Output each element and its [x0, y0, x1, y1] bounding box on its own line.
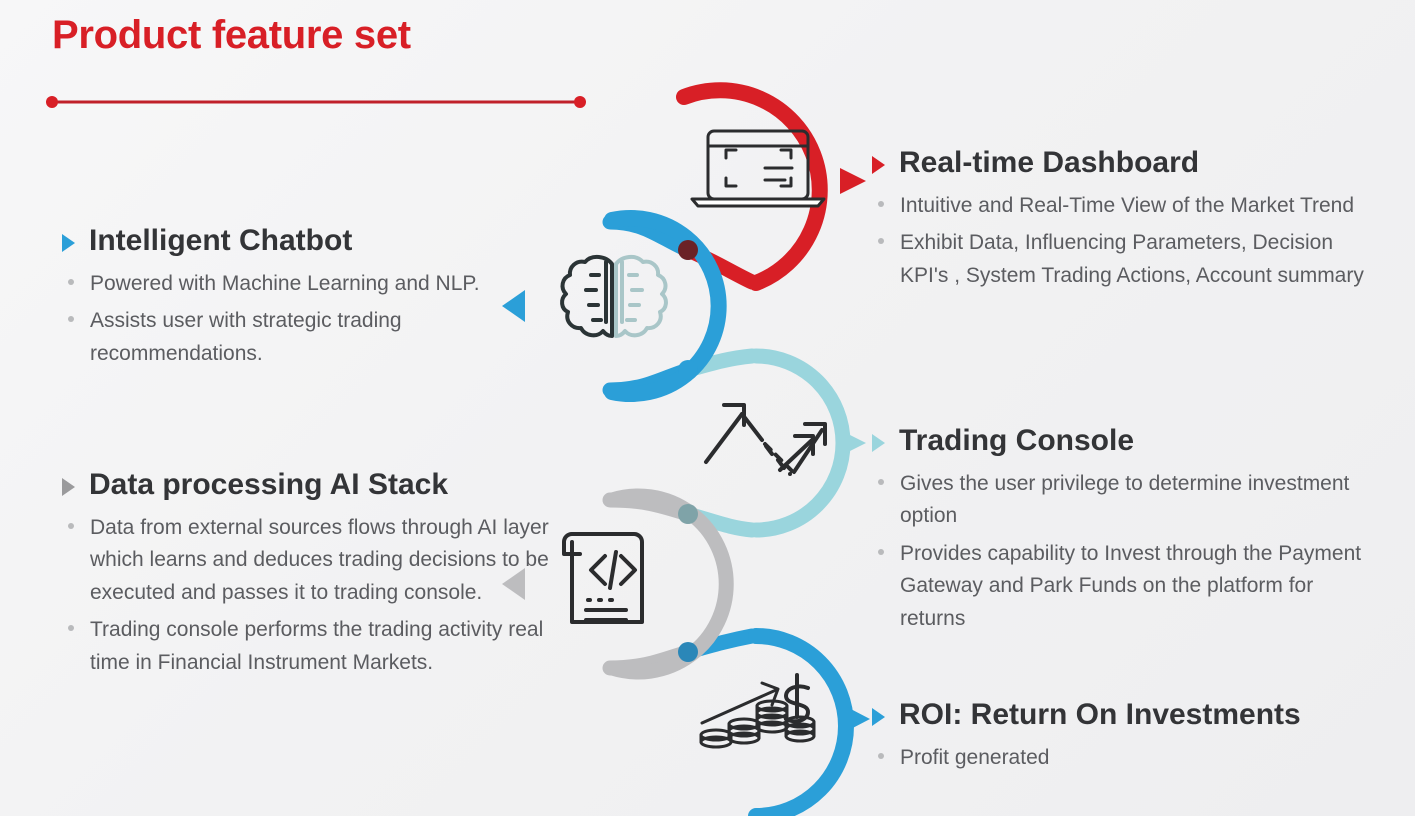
- list-item: Trading console performs the trading act…: [62, 614, 562, 679]
- ring-roi: [756, 636, 870, 816]
- joint-gray-blue: [678, 642, 698, 662]
- bullet-dot-icon: [878, 201, 884, 207]
- connector-ribbons: [610, 222, 752, 668]
- list-item: Provides capability to Invest through th…: [872, 538, 1382, 636]
- bullet-dot-icon: [68, 279, 74, 285]
- joint-red-blue: [678, 240, 698, 260]
- list-item: Exhibit Data, Influencing Parameters, De…: [872, 227, 1382, 292]
- triangle-right-icon: [62, 478, 75, 496]
- bullet-dot-icon: [878, 753, 884, 759]
- feature-bullet-list: Intuitive and Real-Time View of the Mark…: [872, 190, 1382, 293]
- feature-bullet-list: Data from external sources flows through…: [62, 512, 562, 680]
- ring-pointer-right: [840, 168, 866, 194]
- bullet-text: Trading console performs the trading act…: [90, 618, 543, 674]
- laptop-dashboard-icon: [692, 131, 824, 206]
- ring-real-time-dashboard: [684, 90, 866, 283]
- feature-real-time-dashboard: Real-time Dashboard Intuitive and Real-T…: [872, 144, 1382, 297]
- feature-heading-row: Real-time Dashboard: [872, 144, 1382, 182]
- bullet-dot-icon: [68, 316, 74, 322]
- feature-heading-row: Trading Console: [872, 422, 1382, 460]
- feature-bullet-list: Powered with Machine Learning and NLP. A…: [62, 268, 532, 371]
- rule-dot-left: [46, 96, 58, 108]
- slide-canvas: Product feature set: [0, 0, 1415, 816]
- connector-joints: [678, 240, 698, 662]
- bullet-dot-icon: [68, 625, 74, 631]
- bullet-text: Exhibit Data, Influencing Parameters, De…: [900, 231, 1364, 287]
- triangle-right-icon: [872, 708, 885, 726]
- bullet-dot-icon: [878, 238, 884, 244]
- ring-trading-console: [756, 356, 866, 530]
- feature-data-processing-ai-stack: Data processing AI Stack Data from exter…: [62, 466, 562, 684]
- ring-intelligent-chatbot: [502, 218, 719, 394]
- bullet-text: Provides capability to Invest through th…: [900, 542, 1361, 630]
- code-document-icon: [564, 534, 642, 622]
- list-item: Gives the user privilege to determine in…: [872, 468, 1382, 533]
- list-item: Powered with Machine Learning and NLP.: [62, 268, 532, 301]
- feature-title: Real-time Dashboard: [899, 144, 1199, 182]
- feature-roi-return-on-investments: ROI: Return On Investments Profit genera…: [872, 696, 1382, 779]
- feature-title: ROI: Return On Investments: [899, 696, 1301, 734]
- ring-pointer-right: [840, 430, 866, 456]
- feature-trading-console: Trading Console Gives the user privilege…: [872, 422, 1382, 640]
- feature-heading-row: Data processing AI Stack: [62, 466, 562, 504]
- coins-growth-dollar-icon: [701, 675, 814, 747]
- list-item: Profit generated: [872, 742, 1382, 775]
- feature-title: Trading Console: [899, 422, 1134, 460]
- bullet-text: Intuitive and Real-Time View of the Mark…: [900, 194, 1354, 217]
- bullet-dot-icon: [878, 479, 884, 485]
- joint-teal-gray: [678, 504, 698, 524]
- title-block: Product feature set: [52, 14, 411, 56]
- trend-arrows-icon: [706, 405, 825, 474]
- bullet-text: Profit generated: [900, 746, 1049, 769]
- bullet-text: Powered with Machine Learning and NLP.: [90, 272, 480, 295]
- bullet-text: Gives the user privilege to determine in…: [900, 472, 1349, 528]
- feature-chain-diagram: [0, 0, 1415, 816]
- triangle-right-icon: [872, 156, 885, 174]
- list-item: Data from external sources flows through…: [62, 512, 562, 610]
- feature-title: Intelligent Chatbot: [89, 222, 352, 260]
- bullet-text: Data from external sources flows through…: [90, 516, 549, 604]
- ring-pointer-right: [845, 706, 870, 732]
- list-item: Assists user with strategic trading reco…: [62, 305, 532, 370]
- bullet-text: Assists user with strategic trading reco…: [90, 309, 402, 365]
- feature-intelligent-chatbot: Intelligent Chatbot Powered with Machine…: [62, 222, 532, 375]
- triangle-right-icon: [872, 434, 885, 452]
- joint-blue-teal: [678, 360, 698, 380]
- triangle-right-icon: [62, 234, 75, 252]
- list-item: Intuitive and Real-Time View of the Mark…: [872, 190, 1382, 223]
- bullet-dot-icon: [68, 523, 74, 529]
- bullet-dot-icon: [878, 549, 884, 555]
- rule-dot-right: [574, 96, 586, 108]
- brain-icon: [562, 257, 666, 336]
- feature-bullet-list: Gives the user privilege to determine in…: [872, 468, 1382, 636]
- feature-heading-row: ROI: Return On Investments: [872, 696, 1382, 734]
- title-underline-rule: [46, 96, 586, 108]
- feature-heading-row: Intelligent Chatbot: [62, 222, 532, 260]
- page-title: Product feature set: [52, 14, 411, 56]
- feature-title: Data processing AI Stack: [89, 466, 448, 504]
- feature-bullet-list: Profit generated: [872, 742, 1382, 775]
